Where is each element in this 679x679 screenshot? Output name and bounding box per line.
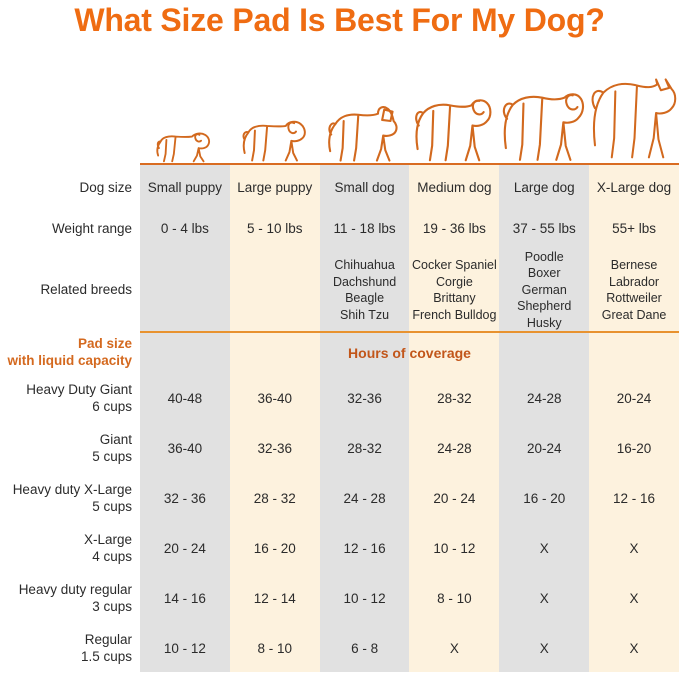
- pad-name-heavy-duty-x-large: Heavy duty X-Large: [13, 482, 132, 499]
- cell-xl-2: 16 - 20: [230, 524, 320, 574]
- row-label-x-large: X-Large 4 cups: [0, 524, 140, 574]
- cell-hdg-4: 28-32: [409, 374, 499, 424]
- breed-name: Boxer: [528, 265, 561, 282]
- row-label-heavy-duty-giant: Heavy Duty Giant 6 cups: [0, 374, 140, 424]
- cell-dog-size-5: Large dog: [499, 168, 589, 208]
- pad-capacity-heavy-duty-giant: 6 cups: [92, 399, 132, 416]
- cell-dog-size-4: Medium dog: [409, 168, 499, 208]
- small-puppy-icon: [154, 125, 216, 163]
- cell-weight-5: 37 - 55 lbs: [499, 210, 589, 248]
- cell-hdxl-4: 20 - 24: [409, 474, 499, 524]
- cell-breeds-5: PoodleBoxerGermanShepherdHusky: [499, 248, 589, 332]
- breed-name: Beagle: [345, 290, 384, 307]
- cell-weight-2: 5 - 10 lbs: [230, 210, 320, 248]
- cell-xl-3: 12 - 16: [320, 524, 410, 574]
- row-x-large: X-Large 4 cups 20 - 24 16 - 20 12 - 16 1…: [0, 524, 679, 574]
- cell-breeds-6: BerneseLabradorRottweilerGreat Dane: [589, 248, 679, 332]
- breed-name: Labrador: [609, 274, 659, 291]
- row-label-weight-range: Weight range: [0, 210, 140, 248]
- page-title: What Size Pad Is Best For My Dog?: [0, 2, 679, 39]
- cell-reg-1: 10 - 12: [140, 624, 230, 674]
- breed-name: Cocker Spaniel: [412, 257, 497, 274]
- dog-cell-small-dog: [320, 72, 410, 163]
- cell-breeds-1: [140, 248, 230, 332]
- pad-size-header-label: Pad size with liquid capacity: [0, 336, 140, 370]
- x-large-dog-icon: [589, 75, 679, 163]
- pad-size-header-line1: Pad size: [78, 336, 132, 353]
- cell-breeds-3: ChihuahuaDachshundBeagleShih Tzu: [320, 248, 410, 332]
- cell-reg-2: 8 - 10: [230, 624, 320, 674]
- cell-weight-6: 55+ lbs: [589, 210, 679, 248]
- cell-hdg-1: 40-48: [140, 374, 230, 424]
- breed-name: Corgie: [436, 274, 473, 291]
- breed-name: Shih Tzu: [340, 307, 389, 324]
- cell-hdr-3: 10 - 12: [320, 574, 410, 624]
- row-heavy-duty-regular: Heavy duty regular 3 cups 14 - 16 12 - 1…: [0, 574, 679, 624]
- row-label-heavy-duty-x-large: Heavy duty X-Large 5 cups: [0, 474, 140, 524]
- cell-xl-1: 20 - 24: [140, 524, 230, 574]
- dog-cell-medium-dog: [409, 72, 499, 163]
- cell-xl-5: X: [499, 524, 589, 574]
- cell-hdr-2: 12 - 14: [230, 574, 320, 624]
- pad-capacity-x-large: 4 cups: [92, 549, 132, 566]
- cell-hdr-6: X: [589, 574, 679, 624]
- cell-weight-4: 19 - 36 lbs: [409, 210, 499, 248]
- cell-reg-5: X: [499, 624, 589, 674]
- breed-name: Chihuahua: [334, 257, 394, 274]
- cell-hdr-4: 8 - 10: [409, 574, 499, 624]
- row-label-giant: Giant 5 cups: [0, 424, 140, 474]
- breed-name: Bernese: [611, 257, 658, 274]
- hours-of-coverage-title: Hours of coverage: [140, 345, 679, 361]
- cell-hdxl-5: 16 - 20: [499, 474, 589, 524]
- cell-dog-size-2: Large puppy: [230, 168, 320, 208]
- breed-name: Rottweiler: [606, 290, 662, 307]
- pad-capacity-regular: 1.5 cups: [81, 649, 132, 666]
- row-related-breeds: Related breeds ChihuahuaDachshundBeagleS…: [0, 248, 679, 332]
- row-label-related-breeds: Related breeds: [0, 248, 140, 332]
- cell-giant-1: 36-40: [140, 424, 230, 474]
- dog-illustration-row: [140, 72, 679, 163]
- size-chart-table: Dog size Small puppy Large puppy Small d…: [0, 72, 679, 672]
- cell-reg-3: 6 - 8: [320, 624, 410, 674]
- cell-hdg-2: 36-40: [230, 374, 320, 424]
- row-heavy-duty-giant: Heavy Duty Giant 6 cups 40-48 36-40 32-3…: [0, 374, 679, 424]
- cell-breeds-2: [230, 248, 320, 332]
- cell-breeds-4: Cocker SpanielCorgieBrittanyFrench Bulld…: [409, 248, 499, 332]
- cell-giant-3: 28-32: [320, 424, 410, 474]
- large-dog-icon: [500, 91, 588, 163]
- pad-name-regular: Regular: [85, 632, 132, 649]
- dog-ground-line: [140, 163, 679, 165]
- medium-dog-icon: [412, 97, 496, 163]
- pad-name-giant: Giant: [100, 432, 132, 449]
- cell-dog-size-3: Small dog: [320, 168, 410, 208]
- row-dog-size: Dog size Small puppy Large puppy Small d…: [0, 168, 679, 208]
- row-label-dog-size: Dog size: [0, 168, 140, 208]
- row-heavy-duty-x-large: Heavy duty X-Large 5 cups 32 - 36 28 - 3…: [0, 474, 679, 524]
- cell-hdg-5: 24-28: [499, 374, 589, 424]
- pad-size-header-line2: with liquid capacity: [7, 353, 132, 370]
- breed-name: Dachshund: [333, 274, 396, 291]
- dog-cell-x-large-dog: [589, 72, 679, 163]
- cell-giant-2: 32-36: [230, 424, 320, 474]
- cell-giant-4: 24-28: [409, 424, 499, 474]
- breed-name: Poodle: [525, 249, 564, 266]
- cell-hdxl-2: 28 - 32: [230, 474, 320, 524]
- pad-name-heavy-duty-giant: Heavy Duty Giant: [26, 382, 132, 399]
- dog-cell-small-puppy: [140, 72, 230, 163]
- cell-xl-6: X: [589, 524, 679, 574]
- cell-hdxl-6: 12 - 16: [589, 474, 679, 524]
- dog-cell-large-puppy: [230, 72, 320, 163]
- pad-capacity-giant: 5 cups: [92, 449, 132, 466]
- breed-name: Great Dane: [602, 307, 667, 324]
- row-label-regular: Regular 1.5 cups: [0, 624, 140, 674]
- cell-hdg-3: 32-36: [320, 374, 410, 424]
- cell-reg-4: X: [409, 624, 499, 674]
- row-label-heavy-duty-regular: Heavy duty regular 3 cups: [0, 574, 140, 624]
- small-dog-icon: [326, 105, 404, 163]
- cell-xl-4: 10 - 12: [409, 524, 499, 574]
- breed-name: French Bulldog: [412, 307, 496, 324]
- cell-reg-6: X: [589, 624, 679, 674]
- pad-capacity-heavy-duty-regular: 3 cups: [92, 599, 132, 616]
- cell-hdr-5: X: [499, 574, 589, 624]
- cell-weight-3: 11 - 18 lbs: [320, 210, 410, 248]
- row-pad-size-header: Pad size with liquid capacity Hours of c…: [0, 334, 679, 372]
- cell-dog-size-1: Small puppy: [140, 168, 230, 208]
- pad-capacity-heavy-duty-x-large: 5 cups: [92, 499, 132, 516]
- breed-name: Shepherd: [517, 298, 571, 315]
- cell-hdxl-1: 32 - 36: [140, 474, 230, 524]
- row-giant: Giant 5 cups 36-40 32-36 28-32 24-28 20-…: [0, 424, 679, 474]
- breed-name: Brittany: [433, 290, 475, 307]
- cell-giant-5: 20-24: [499, 424, 589, 474]
- pad-name-x-large: X-Large: [84, 532, 132, 549]
- cell-hdxl-3: 24 - 28: [320, 474, 410, 524]
- cell-hdg-6: 20-24: [589, 374, 679, 424]
- dog-cell-large-dog: [499, 72, 589, 163]
- row-weight-range: Weight range 0 - 4 lbs 5 - 10 lbs 11 - 1…: [0, 210, 679, 248]
- breed-name: German: [522, 282, 567, 299]
- cell-weight-1: 0 - 4 lbs: [140, 210, 230, 248]
- cell-giant-6: 16-20: [589, 424, 679, 474]
- pad-name-heavy-duty-regular: Heavy duty regular: [19, 582, 132, 599]
- row-regular: Regular 1.5 cups 10 - 12 8 - 10 6 - 8 X …: [0, 624, 679, 674]
- cell-dog-size-6: X-Large dog: [589, 168, 679, 208]
- breed-name: Husky: [527, 315, 562, 332]
- large-puppy-icon: [240, 115, 310, 163]
- cell-hdr-1: 14 - 16: [140, 574, 230, 624]
